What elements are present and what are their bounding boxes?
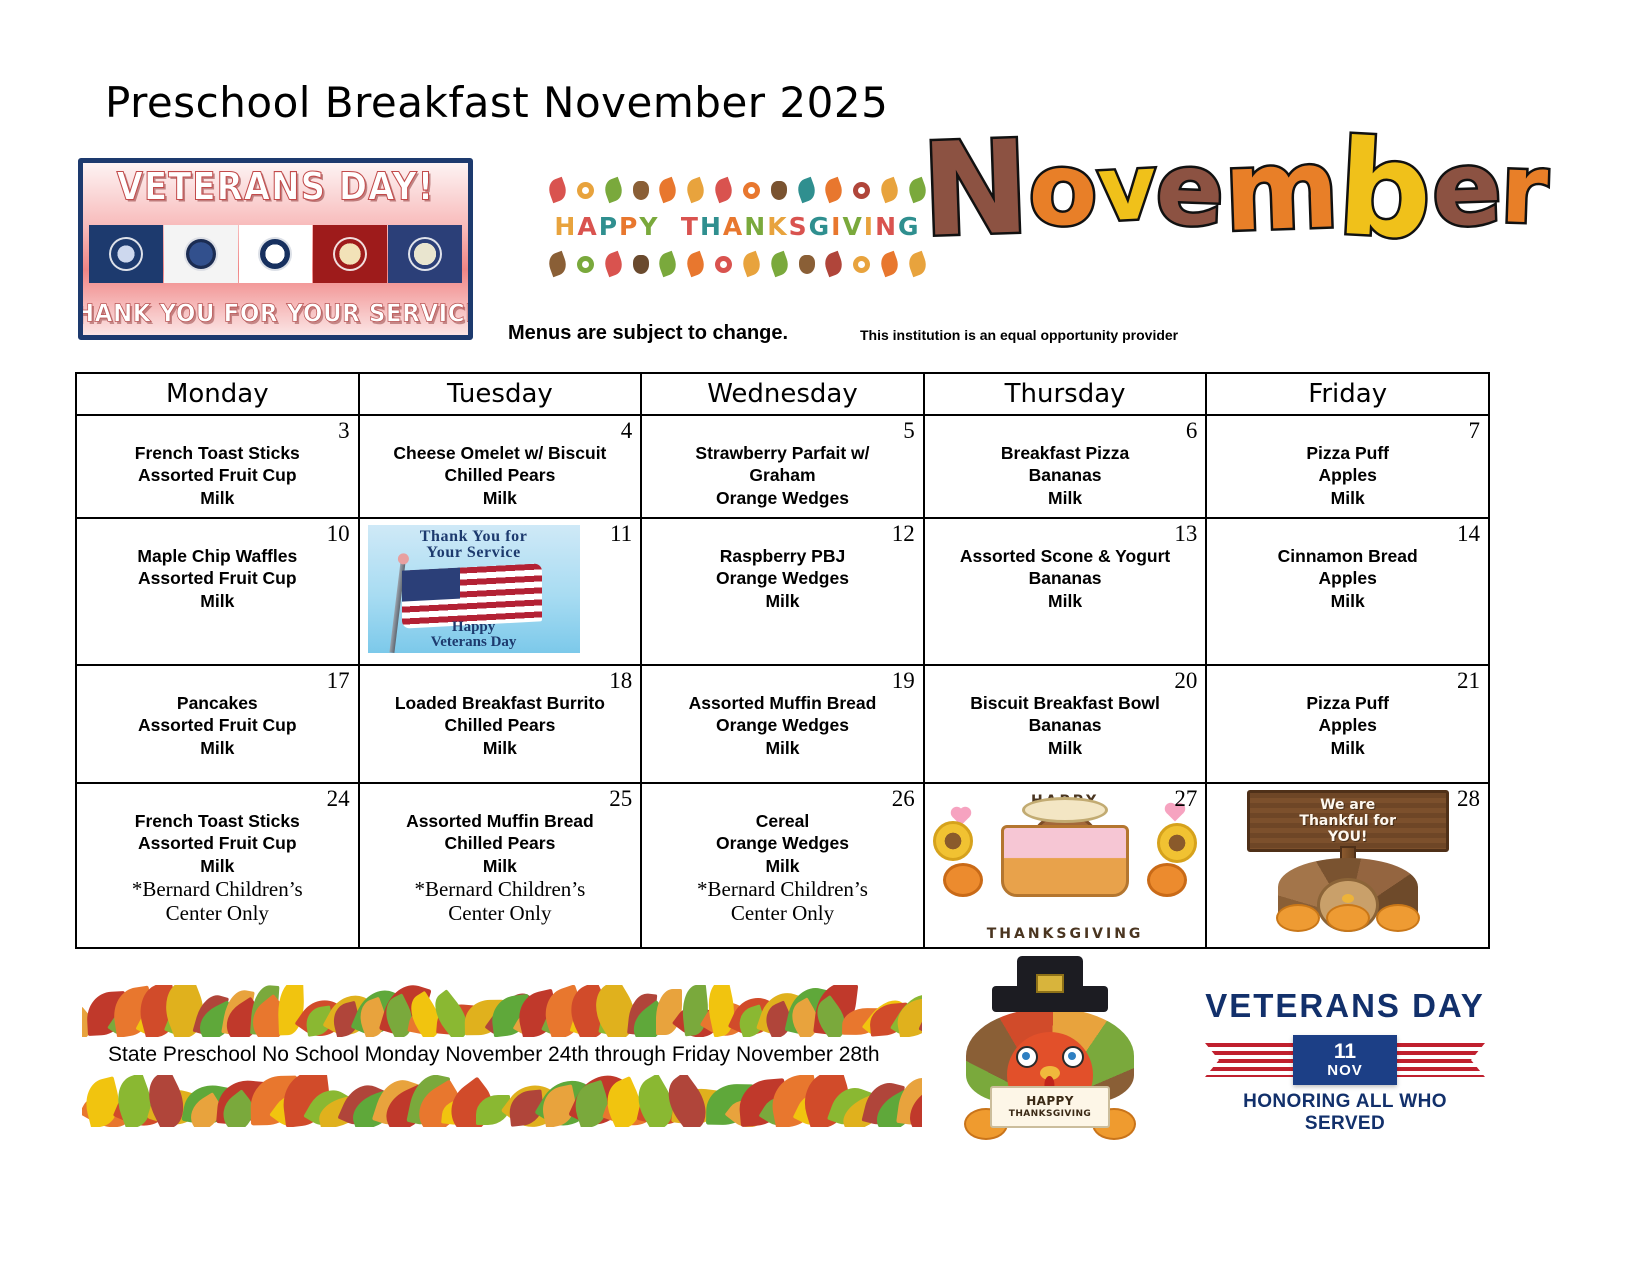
menu-change-note: Menus are subject to change. bbox=[508, 322, 788, 345]
calendar-day-13[interactable]: 13Assorted Scone & YogurtBananasMilk bbox=[924, 518, 1207, 665]
menu-item: Assorted Muffin Bread bbox=[366, 810, 635, 832]
day-number: 13 bbox=[1174, 522, 1197, 545]
header-notes: Menus are subject to change. This instit… bbox=[0, 322, 1650, 362]
calendar-day-17[interactable]: 17PancakesAssorted Fruit CupMilk bbox=[76, 665, 359, 783]
badge-day: 11 bbox=[1334, 1041, 1356, 1062]
menu-item: Milk bbox=[83, 737, 352, 759]
day-number: 14 bbox=[1457, 522, 1480, 545]
november-letter: b bbox=[1335, 122, 1435, 257]
calendar-body: 3French Toast SticksAssorted Fruit CupMi… bbox=[76, 415, 1489, 948]
menu-item: Milk bbox=[83, 590, 352, 612]
acorn-icon bbox=[633, 181, 649, 200]
marines-seal-icon bbox=[313, 225, 387, 283]
day-number: 21 bbox=[1457, 669, 1480, 692]
flower-icon bbox=[853, 256, 870, 273]
weekday-header-monday: Monday bbox=[76, 373, 359, 415]
leaf-icon bbox=[822, 251, 845, 277]
menu-items: PancakesAssorted Fruit CupMilk bbox=[77, 666, 358, 765]
sunflower-icon bbox=[933, 821, 973, 861]
thanksgiving-basket-image: HAPPYTHANKSGIVING bbox=[925, 789, 1206, 944]
day-number: 19 bbox=[892, 669, 915, 692]
menu-item: Orange Wedges bbox=[648, 832, 917, 854]
menu-item: Milk bbox=[83, 855, 352, 877]
leaf-icon bbox=[822, 177, 845, 203]
autumn-leaf-border-bottom bbox=[82, 1075, 922, 1127]
menu-item: Orange Wedges bbox=[648, 487, 917, 509]
menu-item: Assorted Fruit Cup bbox=[83, 567, 352, 589]
wooden-sign-icon: We areThankful forYOU! bbox=[1247, 790, 1449, 852]
menu-items: Assorted Muffin BreadOrange WedgesMilk bbox=[642, 666, 923, 765]
menu-item: Milk bbox=[366, 855, 635, 877]
autumn-leaf-border-top bbox=[82, 985, 922, 1037]
leaf-icon bbox=[768, 251, 791, 277]
menu-item: Milk bbox=[1213, 590, 1482, 612]
menu-item: Graham bbox=[648, 464, 917, 486]
leaf-icon bbox=[601, 177, 624, 203]
weekday-header-friday: Friday bbox=[1206, 373, 1489, 415]
day-number: 3 bbox=[338, 419, 350, 442]
flag-ribbon-graphic: 11 NOV bbox=[1205, 1031, 1485, 1087]
november-letter: e bbox=[1154, 139, 1225, 241]
day-number: 20 bbox=[1174, 669, 1197, 692]
menu-item: Milk bbox=[648, 737, 917, 759]
menu-item: Assorted Muffin Bread bbox=[648, 692, 917, 714]
weekday-header-wednesday: Wednesday bbox=[641, 373, 924, 415]
calendar-day-10[interactable]: 10Maple Chip WafflesAssorted Fruit CupMi… bbox=[76, 518, 359, 665]
menu-item: Milk bbox=[648, 590, 917, 612]
menu-item: Pancakes bbox=[83, 692, 352, 714]
menu-item: Apples bbox=[1213, 714, 1482, 736]
november-wordart-image: November bbox=[975, 55, 1495, 325]
day-number: 6 bbox=[1186, 419, 1198, 442]
november-letter: N bbox=[920, 124, 1032, 256]
weekday-header-tuesday: Tuesday bbox=[359, 373, 642, 415]
breakfast-calendar-table: Monday Tuesday Wednesday Thursday Friday… bbox=[75, 372, 1490, 949]
turkey-eye-left-icon bbox=[1016, 1046, 1038, 1068]
menu-item: Biscuit Breakfast Bowl bbox=[931, 692, 1200, 714]
pumpkin-icon bbox=[943, 863, 983, 897]
thanksgiving-turkey-mascot-image: HAPPY THANKSGIVING bbox=[960, 980, 1140, 1140]
day-number: 24 bbox=[327, 787, 350, 810]
sign-text: We areThankful forYOU! bbox=[1299, 797, 1396, 845]
menu-item: Milk bbox=[931, 590, 1200, 612]
menu-item: Milk bbox=[931, 487, 1200, 509]
leaf-icon bbox=[684, 251, 707, 277]
menu-item: Orange Wedges bbox=[648, 714, 917, 736]
menu-item: Pizza Puff bbox=[1213, 442, 1482, 464]
veterans-day-banner-image: VETERANS DAY! THANK YOU FOR YOUR SERVICE… bbox=[78, 158, 473, 340]
pumpkin-icon bbox=[1147, 863, 1187, 897]
calendar-day-28[interactable]: We areThankful forYOU!28 bbox=[1206, 783, 1489, 948]
menu-items: French Toast SticksAssorted Fruit CupMil… bbox=[77, 784, 358, 931]
menu-item: Apples bbox=[1213, 464, 1482, 486]
leaf-icon bbox=[546, 177, 569, 203]
happy-thanksgiving-banner-image: HAPPY THANKSGIVING bbox=[545, 175, 930, 285]
autumn-leaf-row-top bbox=[545, 175, 930, 205]
date-plate: 11 NOV bbox=[1293, 1035, 1397, 1085]
day-number: 17 bbox=[327, 669, 350, 692]
navy-seal-icon bbox=[239, 225, 313, 283]
day-number: 25 bbox=[609, 787, 632, 810]
calendar-week-row: 24French Toast SticksAssorted Fruit CupM… bbox=[76, 783, 1489, 948]
menu-items: Pizza PuffApplesMilk bbox=[1207, 666, 1488, 765]
menu-items: Strawberry Parfait w/GrahamOrange Wedges bbox=[642, 416, 923, 515]
coast-guard-seal-icon bbox=[388, 225, 462, 283]
calendar-week-row: 3French Toast SticksAssorted Fruit CupMi… bbox=[76, 415, 1489, 518]
air-force-seal-icon bbox=[89, 225, 163, 283]
veterans-day-cell-image: Thank You forYour ServiceHappyVeterans D… bbox=[368, 525, 580, 653]
day-number: 10 bbox=[327, 522, 350, 545]
menu-item: Strawberry Parfait w/ bbox=[648, 442, 917, 464]
veterans-day-footer-badge: VETERANS DAY 11 NOV HONORING ALL WHO SER… bbox=[1205, 987, 1485, 1127]
page-header: Preschool Breakfast November 2025 VETERA… bbox=[0, 0, 1650, 370]
menu-item: Orange Wedges bbox=[648, 567, 917, 589]
turkey-icon bbox=[1273, 852, 1423, 932]
veterans-day-footer-title: VETERANS DAY bbox=[1205, 987, 1485, 1025]
calendar-day-18[interactable]: 18Loaded Breakfast BurritoChilled PearsM… bbox=[359, 665, 642, 783]
menu-items: Loaded Breakfast BurritoChilled PearsMil… bbox=[360, 666, 641, 765]
calendar-day-7[interactable]: 7Pizza PuffApplesMilk bbox=[1206, 415, 1489, 518]
leaf-icon bbox=[656, 177, 679, 203]
calendar-day-11[interactable]: Thank You forYour ServiceHappyVeterans D… bbox=[359, 518, 642, 665]
menu-items: Cinnamon BreadApplesMilk bbox=[1207, 519, 1488, 618]
flower-icon bbox=[853, 182, 870, 199]
happy-thanksgiving-text: HAPPY THANKSGIVING bbox=[545, 205, 930, 249]
autumn-leaf-row-bottom bbox=[545, 249, 930, 279]
flag-stripes-left-icon bbox=[1205, 1043, 1297, 1077]
calendar-day-26[interactable]: 26CerealOrange WedgesMilk*Bernard Childr… bbox=[641, 783, 924, 948]
november-letter: e bbox=[1430, 138, 1503, 243]
acorn-icon bbox=[633, 255, 649, 274]
vets-art-line4: Veterans Day bbox=[368, 634, 580, 651]
flower-icon bbox=[743, 182, 760, 199]
day-number: 4 bbox=[621, 419, 633, 442]
november-letter: m bbox=[1222, 133, 1340, 247]
calendar-week-row: 17PancakesAssorted Fruit CupMilk18Loaded… bbox=[76, 665, 1489, 783]
menu-items: Maple Chip WafflesAssorted Fruit CupMilk bbox=[77, 519, 358, 618]
menu-item: Cereal bbox=[648, 810, 917, 832]
menu-item: French Toast Sticks bbox=[83, 442, 352, 464]
november-letter: o bbox=[1026, 138, 1100, 241]
leaf-icon bbox=[546, 251, 569, 277]
menu-item: Chilled Pears bbox=[366, 464, 635, 486]
weekday-header-row: Monday Tuesday Wednesday Thursday Friday bbox=[76, 373, 1489, 415]
calendar-day-4[interactable]: 4Cheese Omelet w/ BiscuitChilled PearsMi… bbox=[359, 415, 642, 518]
menu-item: Cinnamon Bread bbox=[1213, 545, 1482, 567]
calendar-day-5[interactable]: 5Strawberry Parfait w/GrahamOrange Wedge… bbox=[641, 415, 924, 518]
pumpkin-row-icon bbox=[1273, 906, 1423, 932]
calendar-day-20[interactable]: 20Biscuit Breakfast BowlBananasMilk bbox=[924, 665, 1207, 783]
thankful-sign-image: We areThankful forYOU! bbox=[1207, 790, 1488, 945]
pilgrim-hat-icon bbox=[992, 986, 1108, 1012]
leaf-icon bbox=[878, 177, 901, 203]
menu-item: Bananas bbox=[931, 567, 1200, 589]
menu-item: Chilled Pears bbox=[366, 714, 635, 736]
veterans-day-footer-subtitle: HONORING ALL WHO SERVED bbox=[1205, 1091, 1485, 1135]
day-number: 7 bbox=[1469, 419, 1481, 442]
mascot-sign-line1: HAPPY bbox=[1026, 1095, 1074, 1109]
menu-item: Milk bbox=[931, 737, 1200, 759]
calendar-day-27[interactable]: HAPPYTHANKSGIVING27 bbox=[924, 783, 1207, 948]
menu-item: Breakfast Pizza bbox=[931, 442, 1200, 464]
flag-stripes-right-icon bbox=[1393, 1043, 1485, 1077]
sunflower-icon bbox=[1157, 823, 1197, 863]
calendar-week-row: 10Maple Chip WafflesAssorted Fruit CupMi… bbox=[76, 518, 1489, 665]
menu-items: CerealOrange WedgesMilk*Bernard Children… bbox=[642, 784, 923, 931]
calendar-day-25[interactable]: 25Assorted Muffin BreadChilled PearsMilk… bbox=[359, 783, 642, 948]
leaf-icon bbox=[712, 177, 735, 203]
bernard-center-note: *Bernard Children’sCenter Only bbox=[366, 878, 635, 925]
calendar-day-6[interactable]: 6Breakfast PizzaBananasMilk bbox=[924, 415, 1207, 518]
menu-item: Milk bbox=[83, 487, 352, 509]
menu-item: Assorted Scone & Yogurt bbox=[931, 545, 1200, 567]
acorn-icon bbox=[799, 255, 815, 274]
menu-items: Biscuit Breakfast BowlBananasMilk bbox=[925, 666, 1206, 765]
menu-items: Pizza PuffApplesMilk bbox=[1207, 416, 1488, 515]
menu-item: Chilled Pears bbox=[366, 832, 635, 854]
menu-item: Raspberry PBJ bbox=[648, 545, 917, 567]
menu-items: Breakfast PizzaBananasMilk bbox=[925, 416, 1206, 515]
menu-items: Assorted Scone & YogurtBananasMilk bbox=[925, 519, 1206, 618]
menu-items: Cheese Omelet w/ BiscuitChilled PearsMil… bbox=[360, 416, 641, 515]
flower-icon bbox=[577, 182, 594, 199]
leaf-icon bbox=[794, 177, 817, 203]
menu-item: Assorted Fruit Cup bbox=[83, 832, 352, 854]
no-school-note: State Preschool No School Monday Novembe… bbox=[108, 1043, 880, 1067]
veterans-day-banner-title: VETERANS DAY! bbox=[117, 165, 435, 210]
basket-icon bbox=[1001, 825, 1129, 897]
bernard-center-note: *Bernard Children’sCenter Only bbox=[83, 878, 352, 925]
menu-item: Bananas bbox=[931, 714, 1200, 736]
badge-month: NOV bbox=[1327, 1062, 1363, 1080]
flower-icon bbox=[715, 256, 732, 273]
day-number: 18 bbox=[609, 669, 632, 692]
leaf-icon bbox=[684, 177, 707, 203]
menu-item: Milk bbox=[1213, 487, 1482, 509]
calendar-day-14[interactable]: 14Cinnamon BreadApplesMilk bbox=[1206, 518, 1489, 665]
day-number: 26 bbox=[892, 787, 915, 810]
page-footer: State Preschool No School Monday Novembe… bbox=[0, 965, 1650, 1275]
weekday-header-thursday: Thursday bbox=[924, 373, 1207, 415]
day-number: 11 bbox=[610, 522, 632, 545]
menu-items: French Toast SticksAssorted Fruit CupMil… bbox=[77, 416, 358, 515]
menu-item: Assorted Fruit Cup bbox=[83, 714, 352, 736]
acorn-icon bbox=[771, 181, 787, 200]
menu-item: Maple Chip Waffles bbox=[83, 545, 352, 567]
bonnet-icon bbox=[1022, 797, 1108, 823]
turkey-eye-right-icon bbox=[1062, 1046, 1084, 1068]
mascot-sign-line2: THANKSGIVING bbox=[1009, 1109, 1091, 1119]
menu-item: Bananas bbox=[931, 464, 1200, 486]
calendar-day-21[interactable]: 21Pizza PuffApplesMilk bbox=[1206, 665, 1489, 783]
bernard-center-note: *Bernard Children’sCenter Only bbox=[648, 878, 917, 925]
menu-item: Pizza Puff bbox=[1213, 692, 1482, 714]
calendar-day-24[interactable]: 24French Toast SticksAssorted Fruit CupM… bbox=[76, 783, 359, 948]
november-letter: v bbox=[1095, 144, 1158, 237]
november-letter: r bbox=[1500, 142, 1550, 238]
menu-item: Assorted Fruit Cup bbox=[83, 464, 352, 486]
menu-item: Milk bbox=[648, 855, 917, 877]
leaf-icon bbox=[656, 251, 679, 277]
leaf-icon bbox=[740, 251, 763, 277]
basket-thanksgiving-text: THANKSGIVING bbox=[925, 926, 1206, 942]
military-seals-strip bbox=[89, 225, 462, 283]
day-number: 27 bbox=[1174, 787, 1197, 810]
equal-opportunity-note: This institution is an equal opportunity… bbox=[860, 327, 1178, 343]
leaf-icon bbox=[601, 251, 624, 277]
menu-items: Raspberry PBJOrange WedgesMilk bbox=[642, 519, 923, 618]
calendar-day-12[interactable]: 12Raspberry PBJOrange WedgesMilk bbox=[641, 518, 924, 665]
menu-item: Milk bbox=[366, 737, 635, 759]
calendar-day-3[interactable]: 3French Toast SticksAssorted Fruit CupMi… bbox=[76, 415, 359, 518]
mascot-sign: HAPPY THANKSGIVING bbox=[990, 1086, 1110, 1128]
menu-items: Assorted Muffin BreadChilled PearsMilk*B… bbox=[360, 784, 641, 931]
menu-item: Cheese Omelet w/ Biscuit bbox=[366, 442, 635, 464]
menu-item: French Toast Sticks bbox=[83, 810, 352, 832]
menu-item: Loaded Breakfast Burrito bbox=[366, 692, 635, 714]
menu-item: Apples bbox=[1213, 567, 1482, 589]
leaf-icon bbox=[878, 251, 901, 277]
army-seal-icon bbox=[164, 225, 238, 283]
menu-item: Milk bbox=[1213, 737, 1482, 759]
calendar-day-19[interactable]: 19Assorted Muffin BreadOrange WedgesMilk bbox=[641, 665, 924, 783]
page-title: Preschool Breakfast November 2025 bbox=[105, 78, 888, 127]
menu-item: Milk bbox=[366, 487, 635, 509]
day-number: 28 bbox=[1457, 787, 1480, 810]
flower-icon bbox=[577, 256, 594, 273]
day-number: 12 bbox=[892, 522, 915, 545]
day-number: 5 bbox=[903, 419, 915, 442]
